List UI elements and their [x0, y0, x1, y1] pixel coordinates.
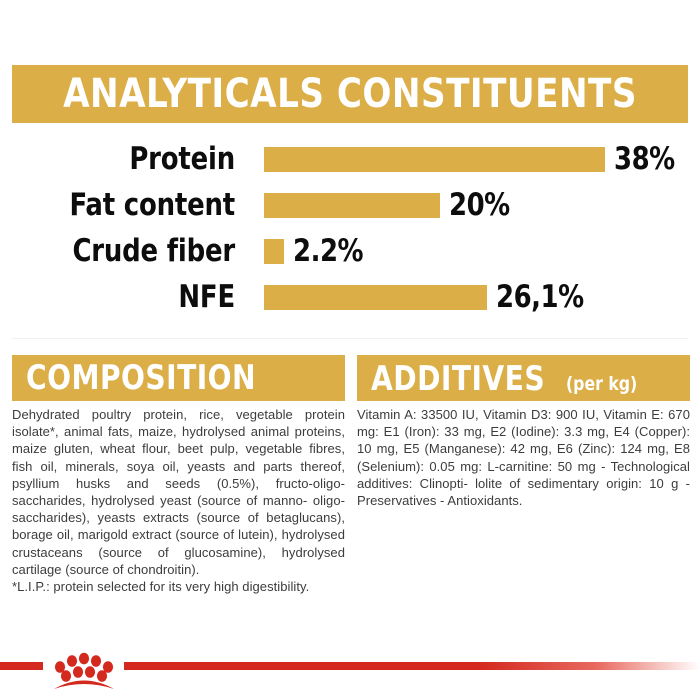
additives-unit-label: (per kg) — [566, 375, 637, 394]
composition-ingredients: Dehydrated poultry protein, rice, vegeta… — [12, 407, 345, 577]
composition-body: Dehydrated poultry protein, rice, vegeta… — [12, 406, 345, 595]
additives-body: Vitamin A: 33500 IU, Vitamin D3: 900 IU,… — [357, 406, 690, 509]
chart-label-crude-fiber: Crude fiber — [16, 236, 235, 267]
chart-row-nfe: NFE 26,1% — [0, 274, 700, 320]
chart-row-fat-content: Fat content 20% — [0, 182, 700, 228]
footer-rule-left — [0, 662, 43, 670]
chart-value-protein: 38% — [614, 144, 675, 175]
analyticals-bar-chart: Protein 38% Fat content 20% Crude fiber … — [0, 136, 700, 326]
composition-title: COMPOSITION — [26, 361, 256, 395]
chart-row-crude-fiber: Crude fiber 2.2% — [0, 228, 700, 274]
additives-header: ADDITIVES (per kg) — [357, 355, 690, 401]
footer-brand-bar — [0, 650, 700, 700]
chart-bar-nfe — [264, 285, 487, 310]
chart-track-nfe: 26,1% — [264, 285, 700, 310]
product-info-panel: ANALYTICALS CONSTITUENTS Protein 38% Fat… — [0, 0, 700, 700]
analyticals-constituents-header: ANALYTICALS CONSTITUENTS — [12, 65, 688, 123]
chart-track-crude-fiber: 2.2% — [264, 239, 700, 264]
chart-value-crude-fiber: 2.2% — [293, 236, 363, 267]
chart-value-nfe: 26,1% — [496, 282, 584, 313]
royal-canin-crown-icon — [46, 650, 122, 690]
chart-label-fat-content: Fat content — [16, 190, 235, 221]
chart-track-fat-content: 20% — [264, 193, 700, 218]
composition-header: COMPOSITION — [12, 355, 345, 401]
chart-label-nfe: NFE — [16, 282, 235, 313]
chart-label-protein: Protein — [16, 144, 235, 175]
section-divider — [12, 338, 688, 339]
additives-title: ADDITIVES — [371, 362, 545, 396]
chart-track-protein: 38% — [264, 147, 700, 172]
footer-rule-right — [124, 662, 700, 670]
chart-bar-protein — [264, 147, 605, 172]
chart-value-fat-content: 20% — [449, 190, 510, 221]
analyticals-title: ANALYTICALS CONSTITUENTS — [63, 74, 637, 114]
chart-bar-crude-fiber — [264, 239, 284, 264]
chart-bar-fat-content — [264, 193, 440, 218]
additives-list: Vitamin A: 33500 IU, Vitamin D3: 900 IU,… — [357, 407, 690, 508]
composition-footnote: *L.I.P.: protein selected for its very h… — [12, 578, 345, 595]
chart-row-protein: Protein 38% — [0, 136, 700, 182]
